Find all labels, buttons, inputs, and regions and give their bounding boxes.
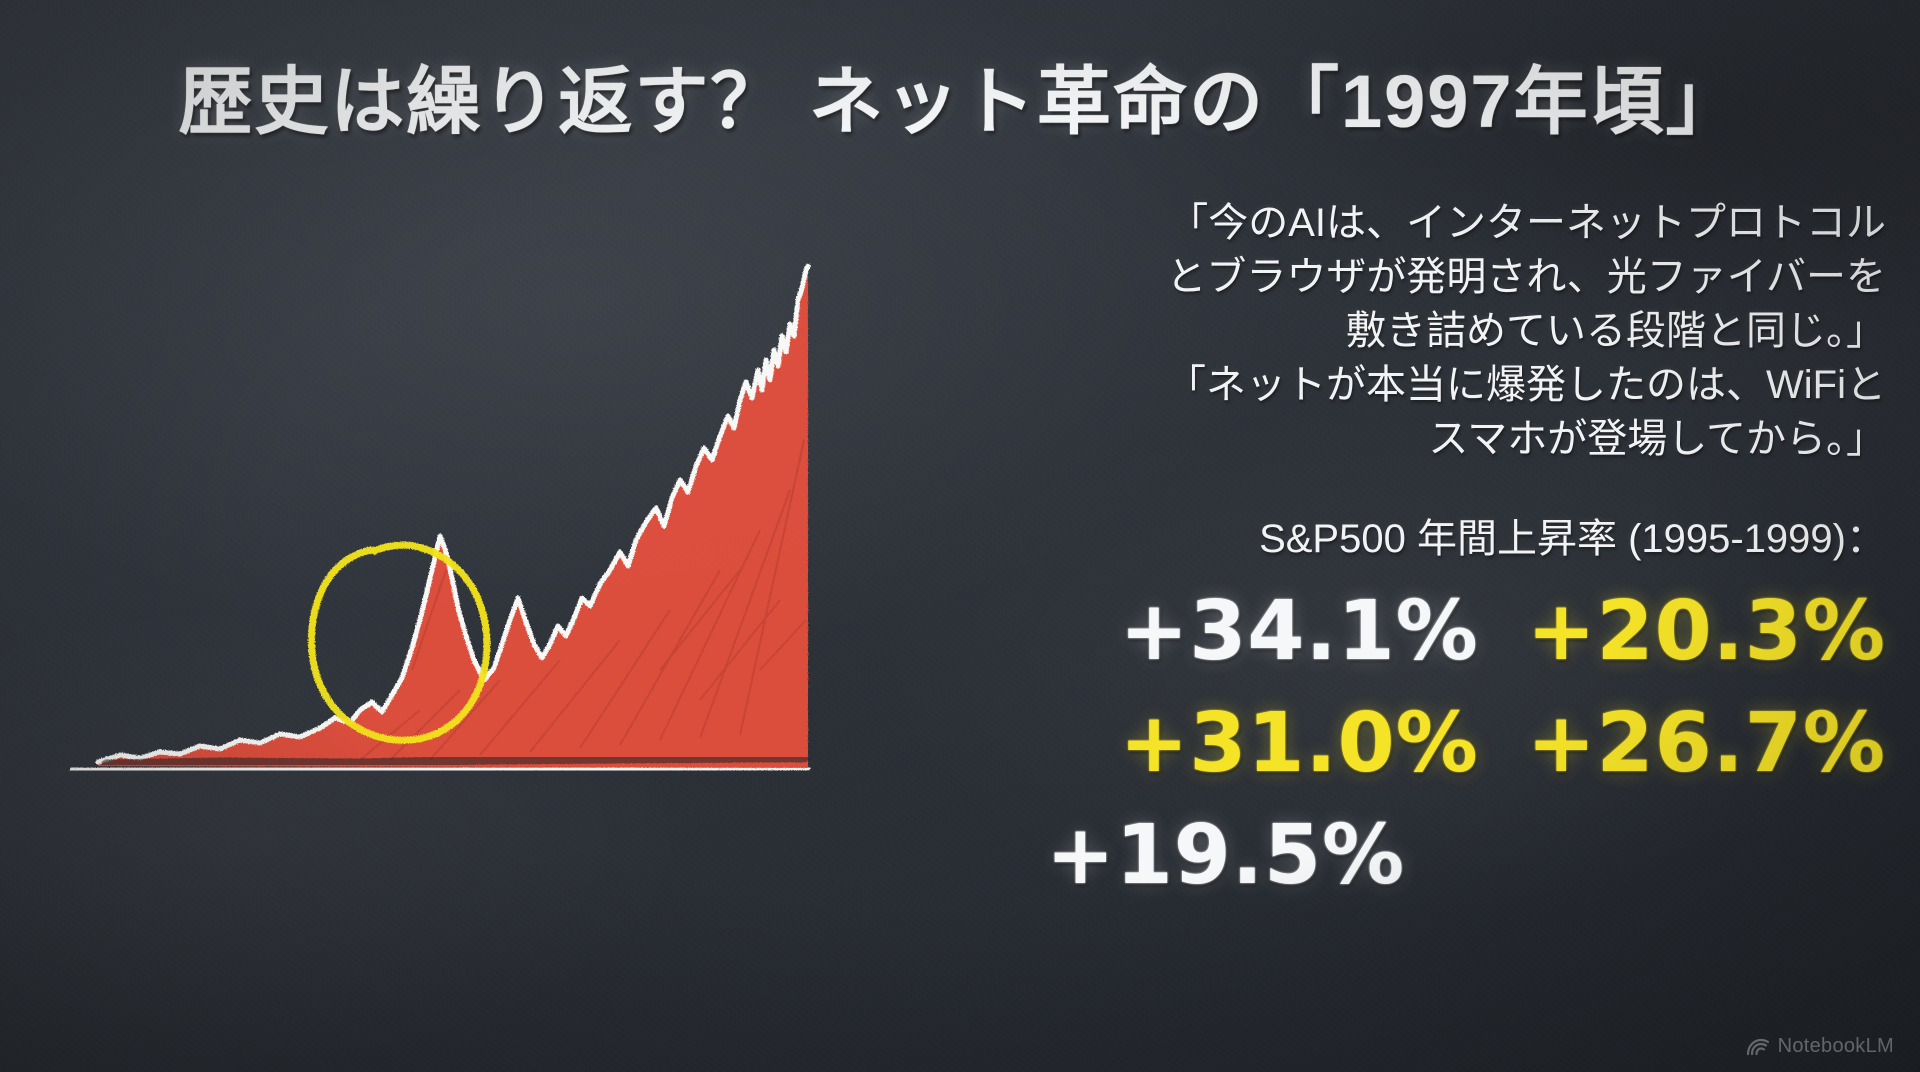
sp500-returns-group: +34.1% +20.3% +31.0% +26.7% +19.5%: [846, 578, 1886, 910]
returns-row-1: +34.1% +20.3%: [846, 578, 1886, 686]
quote-line-2: とブラウザが発明され、光ファイバーを: [846, 250, 1886, 304]
quote-line-1: 「今のAIは、インターネットプロトコル: [846, 196, 1886, 250]
slide-root: 歴史は繰り返す？ ネット革命の「1997年頃」: [0, 0, 1920, 1072]
notebooklm-logo-icon: [1746, 1037, 1770, 1057]
page-title: 歴史は繰り返す？ ネット革命の「1997年頃」: [0, 42, 1920, 149]
return-1999: +19.5%: [1046, 802, 1405, 910]
return-1996: +20.3%: [1527, 578, 1886, 686]
quote-line-5: スマホが登場してから。」: [846, 412, 1886, 466]
notebooklm-label: NotebookLM: [1778, 1035, 1894, 1058]
return-1995: +34.1%: [1120, 578, 1479, 686]
return-1997: +31.0%: [1120, 690, 1479, 798]
return-1998: +26.7%: [1527, 690, 1886, 798]
chart-svg: [60, 240, 870, 800]
quote-line-3: 敷き詰めている段階と同じ。」: [846, 304, 1886, 358]
returns-row-3: +19.5%: [846, 802, 1886, 910]
quote-line-4: 「ネットが本当に爆発したのは、WiFiと: [846, 358, 1886, 412]
x-axis: [72, 768, 808, 770]
stock-chart: [60, 240, 870, 800]
sp500-stat-label: S&P500 年間上昇率 (1995-1999)：: [846, 514, 1886, 564]
right-column: 「今のAIは、インターネットプロトコル とブラウザが発明され、光ファイバーを 敷…: [846, 196, 1886, 910]
returns-row-2: +31.0% +26.7%: [846, 690, 1886, 798]
area-fill: [98, 266, 808, 768]
notebooklm-watermark: NotebookLM: [1746, 1035, 1894, 1058]
